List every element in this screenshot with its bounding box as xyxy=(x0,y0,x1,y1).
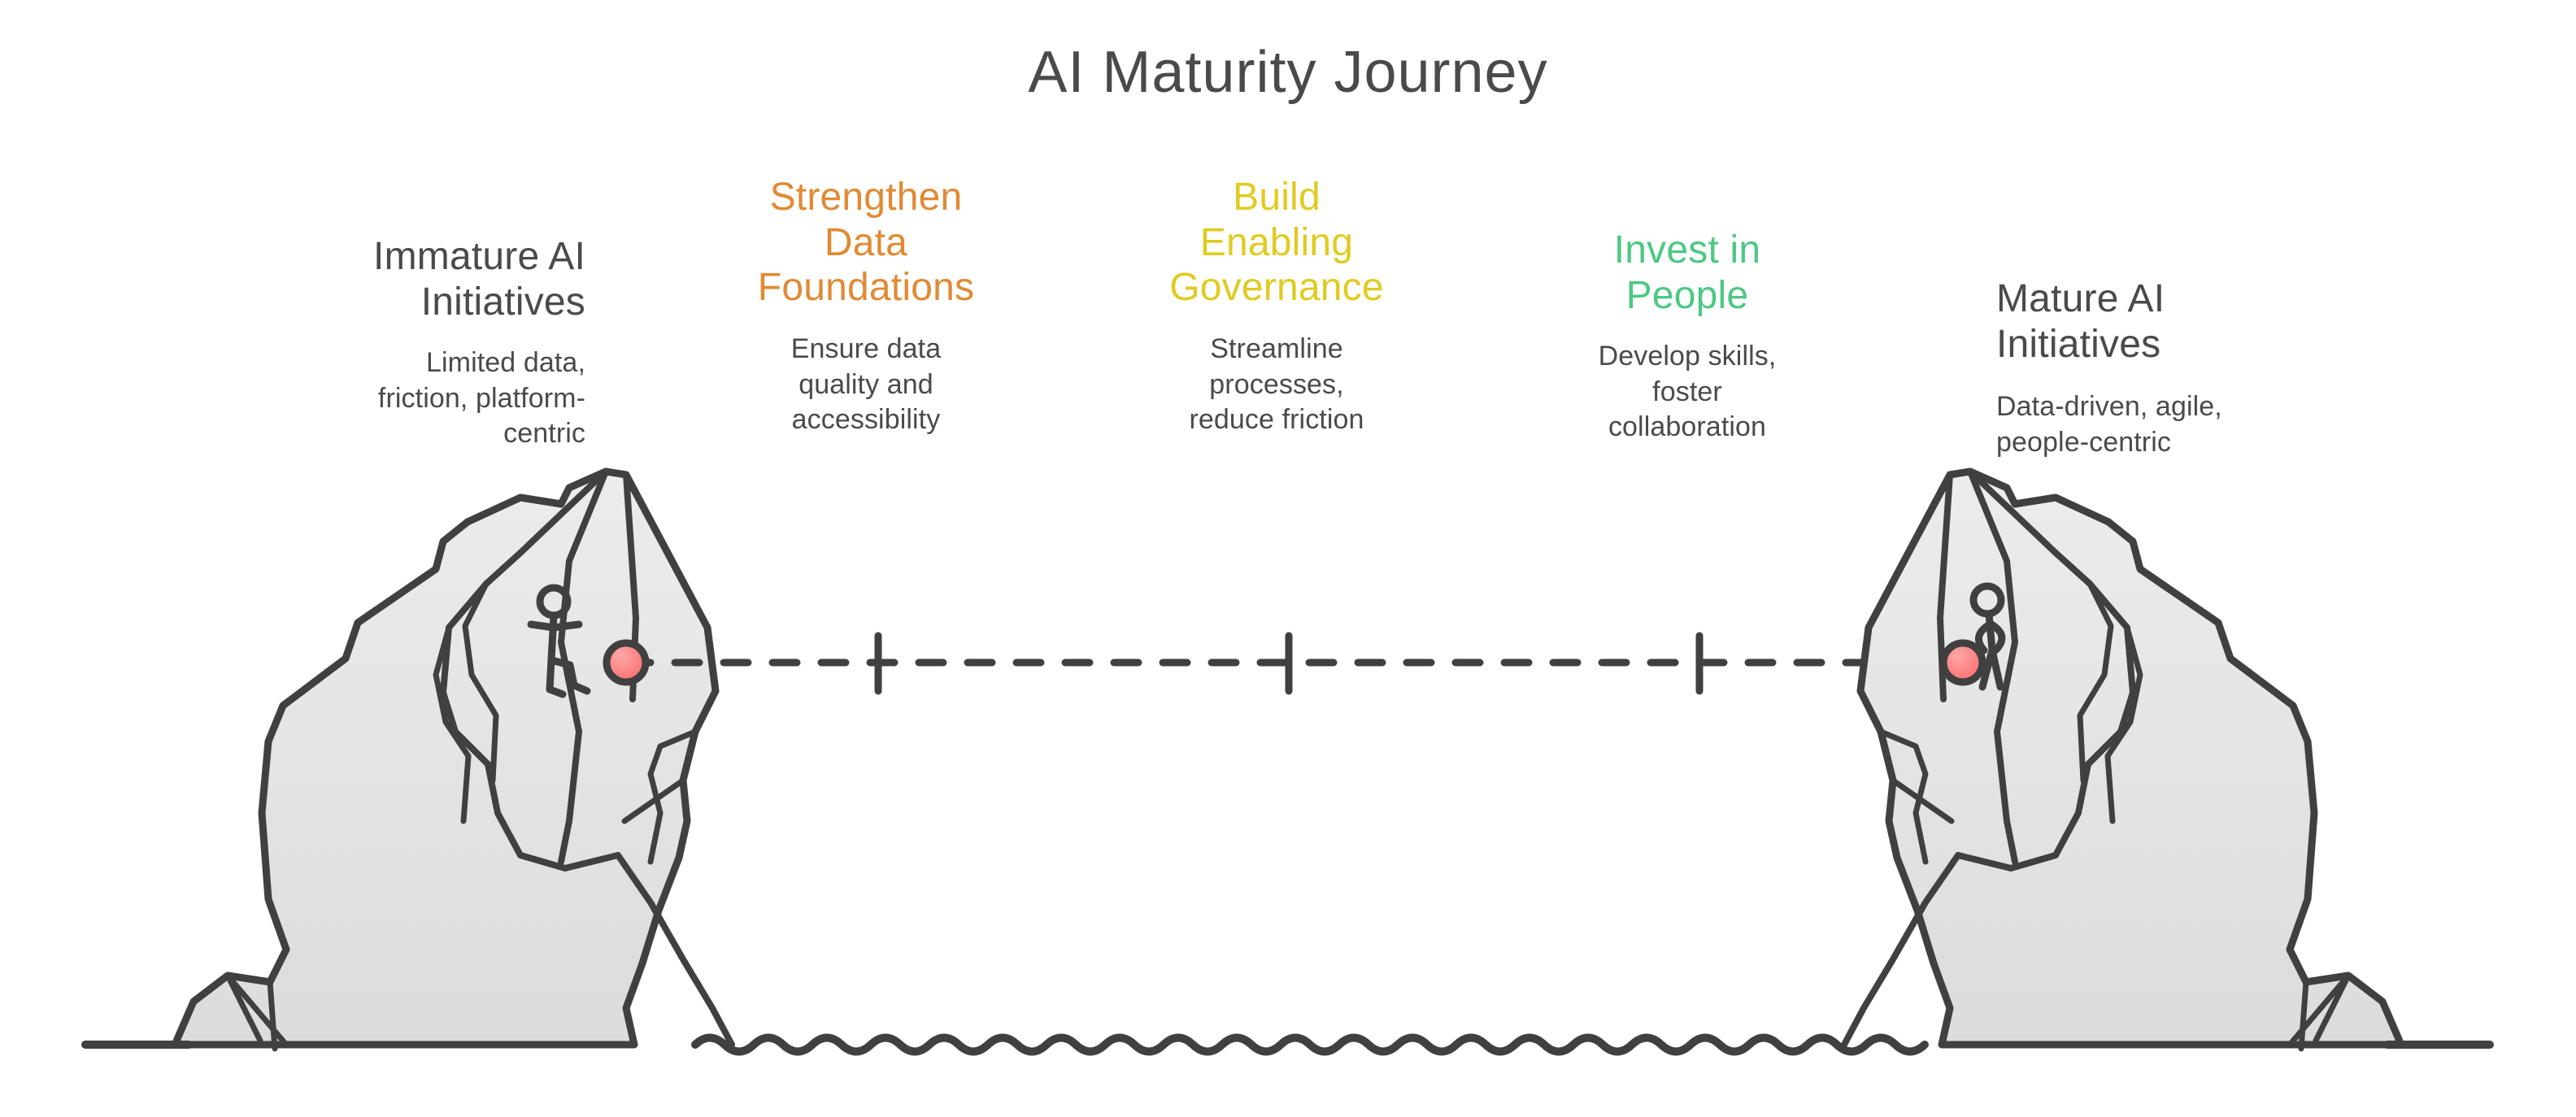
right-mountain xyxy=(1844,472,2401,1049)
journey-end-marker xyxy=(1943,643,1982,682)
journey-start-marker xyxy=(607,643,646,682)
left-figure-torso xyxy=(551,615,554,660)
coral-dot-icon xyxy=(607,643,646,682)
water-wave-line xyxy=(695,1038,1925,1052)
right-figure-torso xyxy=(1989,614,1992,650)
journey-illustration xyxy=(0,0,2576,1117)
journey-path xyxy=(626,636,1956,691)
infographic-canvas: AI Maturity Journey Immature AI Initiati… xyxy=(0,0,2576,1117)
left-mountain xyxy=(175,472,732,1049)
coral-dot-icon xyxy=(1943,643,1982,682)
left-figure-arms xyxy=(531,624,579,628)
